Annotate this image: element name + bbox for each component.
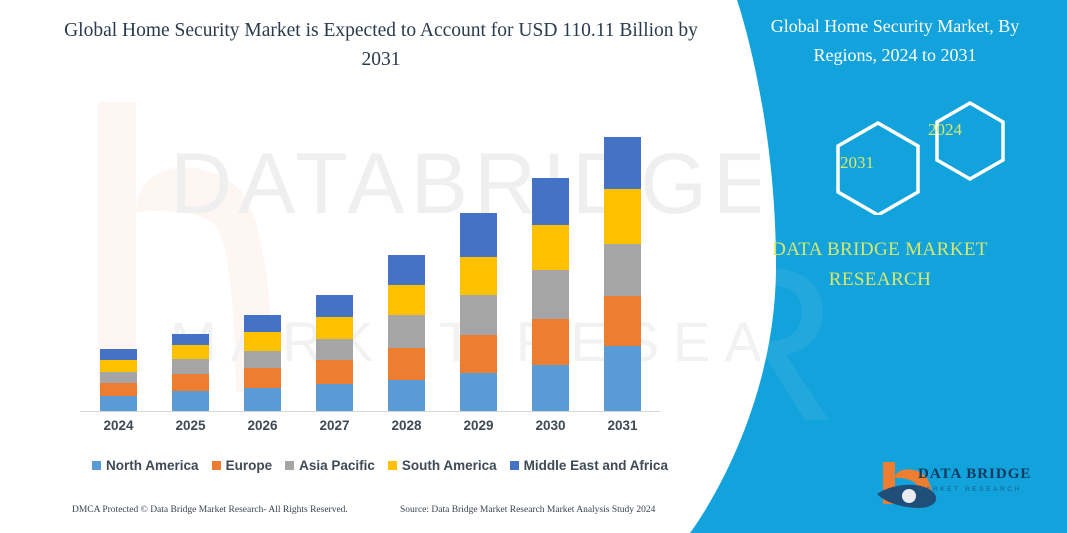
bar-segment-south-america [388, 285, 425, 315]
legend-swatch-icon [92, 461, 101, 470]
right-info-panel: R Global Home Security Market, By Region… [690, 0, 1067, 533]
bar-segment-europe [316, 360, 353, 384]
bar-segment-south-america [604, 189, 641, 244]
x-axis-line [80, 411, 660, 412]
brand-line-1: DATA BRIDGE MARKET [772, 239, 988, 260]
bar-segment-south-america [316, 317, 353, 339]
hexagon-shapes [800, 95, 1040, 215]
bar-segment-asia-pacific [100, 372, 137, 383]
bar-segment-europe [604, 296, 641, 346]
chart-plot-area [80, 100, 670, 411]
hexagon-2024-label: 2024 [928, 120, 962, 140]
legend-swatch-icon [510, 461, 519, 470]
bar-segment-asia-pacific [604, 244, 641, 296]
x-label-2029: 2029 [449, 418, 509, 433]
bar-2031 [604, 137, 641, 411]
bar-segment-north-america [532, 365, 569, 411]
legend-item-middle-east-and-africa[interactable]: Middle East and Africa [510, 458, 668, 473]
legend-item-south-america[interactable]: South America [388, 458, 497, 473]
footer-source: Source: Data Bridge Market Research Mark… [400, 505, 655, 515]
bar-2026 [244, 315, 281, 411]
chart-panel: DATABRIDGE MARKET RESEARCH Global Home S… [0, 0, 760, 533]
right-panel-title: Global Home Security Market, By Regions,… [745, 12, 1045, 70]
legend-label: South America [402, 458, 497, 473]
bar-segment-asia-pacific [532, 270, 569, 319]
bar-2030 [532, 178, 569, 411]
legend-label: Middle East and Africa [524, 458, 668, 473]
bar-2024 [100, 349, 137, 411]
legend-item-north-america[interactable]: North America [92, 458, 199, 473]
footer: DMCA Protected © Data Bridge Market Rese… [0, 505, 720, 527]
bar-2028 [388, 255, 425, 411]
chart-legend: North AmericaEuropeAsia PacificSouth Ame… [80, 455, 680, 475]
bar-segment-asia-pacific [244, 351, 281, 368]
bar-segment-south-america [460, 257, 497, 295]
x-label-2026: 2026 [233, 418, 293, 433]
bar-segment-europe [388, 348, 425, 380]
bar-segment-north-america [316, 384, 353, 411]
hexagon-2031-label: 2031 [840, 153, 874, 173]
x-label-2028: 2028 [377, 418, 437, 433]
bar-segment-asia-pacific [388, 315, 425, 348]
bar-segment-north-america [172, 391, 209, 411]
bar-segment-middle-east-and-africa [316, 295, 353, 317]
right-panel-brand: DATA BRIDGE MARKET RESEARCH [730, 235, 1030, 295]
bar-segment-middle-east-and-africa [388, 255, 425, 285]
bar-2025 [172, 334, 209, 411]
legend-swatch-icon [388, 461, 397, 470]
bar-segment-asia-pacific [316, 339, 353, 360]
bar-segment-north-america [604, 346, 641, 411]
bar-segment-europe [172, 374, 209, 391]
bar-segment-middle-east-and-africa [460, 213, 497, 257]
x-label-2031: 2031 [593, 418, 653, 433]
bar-segment-south-america [244, 332, 281, 351]
bar-segment-middle-east-and-africa [604, 137, 641, 189]
chart-title: Global Home Security Market is Expected … [56, 16, 706, 74]
legend-swatch-icon [285, 461, 294, 470]
legend-label: North America [106, 458, 199, 473]
bar-segment-middle-east-and-africa [100, 349, 137, 360]
x-label-2030: 2030 [521, 418, 581, 433]
bar-segment-north-america [460, 373, 497, 411]
bar-segment-south-america [172, 345, 209, 359]
legend-item-europe[interactable]: Europe [212, 458, 273, 473]
infographic-root: DATABRIDGE MARKET RESEARCH Global Home S… [0, 0, 1067, 533]
bar-segment-europe [460, 335, 497, 373]
bar-segment-europe [100, 383, 137, 396]
right-panel-content: Global Home Security Market, By Regions,… [690, 0, 1067, 533]
x-label-2024: 2024 [89, 418, 149, 433]
bar-segment-middle-east-and-africa [172, 334, 209, 345]
x-axis-labels: 20242025202620272028202920302031 [80, 418, 670, 440]
x-label-2025: 2025 [161, 418, 221, 433]
logo-name: DATA BRIDGE [918, 466, 1058, 483]
bar-segment-asia-pacific [460, 295, 497, 335]
bar-segment-north-america [388, 380, 425, 411]
bar-2029 [460, 213, 497, 411]
bar-segment-middle-east-and-africa [244, 315, 281, 332]
bar-2027 [316, 295, 353, 411]
hexagon-2024 [937, 103, 1003, 179]
bar-segment-south-america [532, 225, 569, 270]
bar-segment-europe [244, 368, 281, 388]
bar-segment-north-america [244, 388, 281, 411]
bar-segment-europe [532, 319, 569, 365]
footer-copyright: DMCA Protected © Data Bridge Market Rese… [72, 505, 348, 515]
bar-segment-north-america [100, 396, 137, 411]
bar-segment-middle-east-and-africa [532, 178, 569, 225]
legend-label: Asia Pacific [299, 458, 375, 473]
hexagon-group: 2024 2031 [800, 95, 1040, 215]
legend-swatch-icon [212, 461, 221, 470]
logo-subtitle: MARKET RESEARCH [918, 486, 1058, 493]
brand-line-2: RESEARCH [829, 269, 931, 290]
legend-label: Europe [226, 458, 273, 473]
bar-segment-south-america [100, 360, 137, 372]
x-label-2027: 2027 [305, 418, 365, 433]
legend-item-asia-pacific[interactable]: Asia Pacific [285, 458, 375, 473]
bar-segment-asia-pacific [172, 359, 209, 374]
